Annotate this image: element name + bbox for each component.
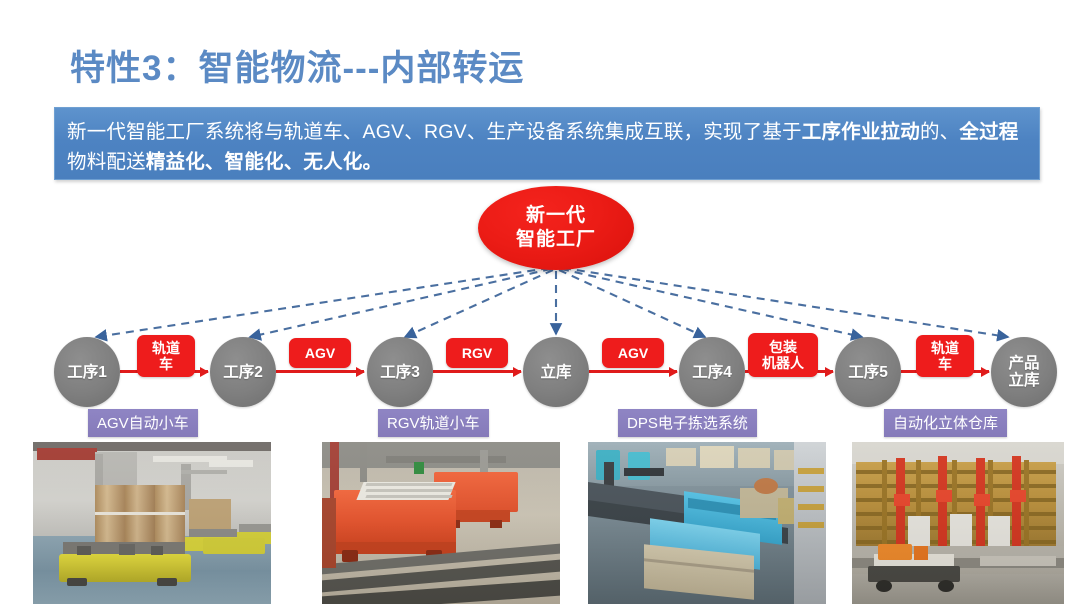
transport-tag-label: 轨道 车 — [152, 340, 180, 372]
transport-tag-agv-2[interactable]: AGV — [602, 338, 664, 368]
photo-caption-agv: AGV自动小车 — [88, 409, 198, 437]
transport-tag-line2: 车 — [938, 356, 952, 372]
transport-tag-label: 包装 机器人 — [762, 339, 804, 371]
photo-caption-rgv: RGV轨道小车 — [378, 409, 489, 437]
banner-segment-3: 业拉动 — [861, 121, 920, 143]
flow-node-product-warehouse[interactable]: 产品 立库 — [991, 337, 1057, 407]
hub-label-line1: 新一代 — [526, 204, 586, 228]
banner-segment-7: 精益化、智能化、无人化。 — [146, 151, 382, 173]
transport-tag-label: AGV — [618, 345, 648, 361]
flow-node-label: 工序2 — [223, 364, 263, 381]
transport-tag-line1: 轨道 — [152, 340, 180, 356]
photo-automated-storage-racking — [852, 442, 1064, 604]
flow-node-label: 产品 立库 — [1008, 355, 1039, 389]
central-hub-smart-factory[interactable]: 新一代 智能工厂 — [478, 186, 634, 270]
summary-banner: 新一代智能工厂系统将与轨道车、AGV、RGV、生产设备系统集成互联，实现了基于工… — [54, 107, 1040, 180]
transport-tag-label: RGV — [462, 345, 492, 361]
flow-node-label: 工序4 — [692, 364, 732, 381]
flow-node-process-4[interactable]: 工序4 — [679, 337, 745, 407]
summary-banner-text: 新一代智能工厂系统将与轨道车、AGV、RGV、生产设备系统集成互联，实现了基于工… — [67, 117, 1029, 177]
page-title: 特性3：智能物流---内部转运 — [70, 40, 524, 91]
transport-tag-line2: 车 — [159, 356, 173, 372]
flow-node-label: 工序1 — [67, 364, 107, 381]
flow-node-label-line2: 立库 — [1008, 372, 1039, 389]
flow-node-process-5[interactable]: 工序5 — [835, 337, 901, 407]
transport-tag-label: AGV — [305, 345, 335, 361]
photo-caption-asrs: 自动化立体仓库 — [884, 409, 1007, 437]
transport-tag-rail-car-1[interactable]: 轨道 车 — [137, 335, 195, 377]
banner-segment-6: 物料配送 — [67, 151, 146, 173]
flow-node-process-1[interactable]: 工序1 — [54, 337, 120, 407]
transport-tag-label: 轨道 车 — [931, 340, 959, 372]
flow-connector-4 — [589, 370, 677, 373]
flow-connector-3 — [433, 370, 521, 373]
banner-segment-2: 工序作 — [802, 121, 861, 143]
banner-segment-5: 全过程 — [959, 121, 1018, 143]
flow-node-label-line1: 产品 — [1008, 355, 1039, 372]
transport-tag-agv-1[interactable]: AGV — [289, 338, 351, 368]
flow-connector-2 — [276, 370, 364, 373]
banner-segment-4: 的、 — [920, 121, 959, 143]
transport-tag-line2: 机器人 — [762, 355, 804, 371]
flow-node-process-2[interactable]: 工序2 — [210, 337, 276, 407]
slide-canvas: 特性3：智能物流---内部转运 新一代智能工厂系统将与轨道车、AGV、RGV、生… — [0, 0, 1080, 608]
photo-dps-picking-conveyor — [588, 442, 826, 604]
transport-tag-packaging-robot[interactable]: 包装 机器人 — [748, 333, 818, 377]
transport-tag-line1: 包装 — [769, 339, 797, 355]
transport-tag-rail-car-2[interactable]: 轨道 车 — [916, 335, 974, 377]
banner-segment-1: 新一代智能工厂系统将与轨道车、AGV、RGV、生产设备系统集成互联，实现了基于 — [67, 121, 802, 143]
flow-node-warehouse[interactable]: 立库 — [523, 337, 589, 407]
flow-node-label: 立库 — [540, 364, 571, 381]
flow-node-label: 工序5 — [848, 364, 888, 381]
transport-tag-line1: 轨道 — [931, 340, 959, 356]
transport-tag-rgv[interactable]: RGV — [446, 338, 508, 368]
flow-node-process-3[interactable]: 工序3 — [367, 337, 433, 407]
photo-caption-dps: DPS电子拣选系统 — [618, 409, 757, 437]
photo-orange-rgv-rail-carts — [322, 442, 560, 604]
photo-agv-cart-carrying-drums — [33, 442, 271, 604]
flow-node-label: 工序3 — [380, 364, 420, 381]
hub-label-line2: 智能工厂 — [516, 228, 596, 252]
